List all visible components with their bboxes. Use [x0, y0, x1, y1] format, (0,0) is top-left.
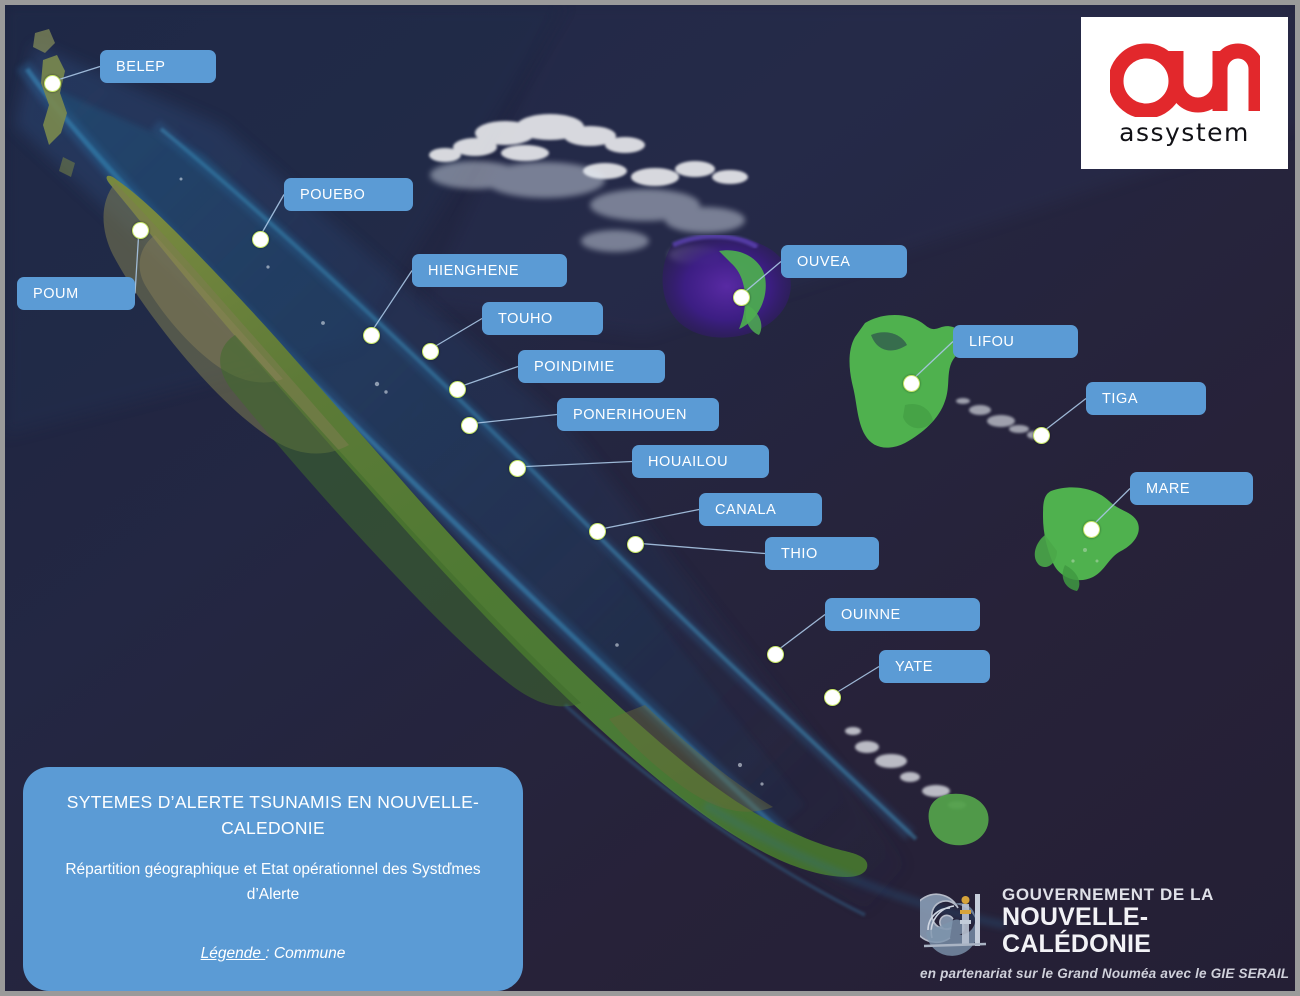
- legend-line: Légende : Commune: [49, 945, 497, 963]
- site-label-ouinne[interactable]: OUINNE: [825, 598, 980, 631]
- site-marker-ouvea[interactable]: [733, 289, 750, 306]
- assystem-logo: assystem: [1081, 17, 1288, 169]
- site-marker-pouebo[interactable]: [252, 231, 269, 248]
- site-marker-poum[interactable]: [132, 222, 149, 239]
- site-label-yate[interactable]: YATE: [879, 650, 990, 683]
- site-marker-canala[interactable]: [589, 523, 606, 540]
- site-marker-lifou[interactable]: [903, 375, 920, 392]
- site-label-pouebo[interactable]: POUEBO: [284, 178, 413, 211]
- site-label-lifou[interactable]: LIFOU: [953, 325, 1078, 358]
- site-marker-belep[interactable]: [44, 75, 61, 92]
- poster-subtitle: Répartition géographique et Etat opérati…: [49, 857, 497, 907]
- site-label-hienghene[interactable]: HIENGHENE: [412, 254, 567, 287]
- site-marker-hienghene[interactable]: [363, 327, 380, 344]
- map-poster: BELEPPOUMPOUEBOHIENGHENETOUHOPOINDIMIEPO…: [0, 0, 1300, 996]
- site-label-canala[interactable]: CANALA: [699, 493, 822, 526]
- site-label-mare[interactable]: MARE: [1130, 472, 1253, 505]
- site-label-houailou[interactable]: HOUAILOU: [632, 445, 769, 478]
- site-marker-yate[interactable]: [824, 689, 841, 706]
- site-marker-ouinne[interactable]: [767, 646, 784, 663]
- satellite-map[interactable]: BELEPPOUMPOUEBOHIENGHENETOUHOPOINDIMIEPO…: [5, 5, 1295, 991]
- legend-value: : Commune: [265, 945, 345, 962]
- government-line1: GOUVERNEMENT DE LA: [1002, 885, 1295, 904]
- site-label-belep[interactable]: BELEP: [100, 50, 216, 83]
- title-legend-panel: SYTEMES D’ALERTE TSUNAMIS EN NOUVELLE-CA…: [23, 767, 523, 991]
- government-logo: GOUVERNEMENT DE LA NOUVELLE-CALÉDONIE en…: [920, 885, 1295, 990]
- site-marker-tiga[interactable]: [1033, 427, 1050, 444]
- site-label-poindimie[interactable]: POINDIMIE: [518, 350, 665, 383]
- assystem-wordmark: assystem: [1119, 118, 1250, 147]
- site-label-touho[interactable]: TOUHO: [482, 302, 603, 335]
- site-marker-ponerihouen[interactable]: [461, 417, 478, 434]
- site-marker-mare[interactable]: [1083, 521, 1100, 538]
- site-marker-thio[interactable]: [627, 536, 644, 553]
- site-marker-touho[interactable]: [422, 343, 439, 360]
- site-label-poum[interactable]: POUM: [17, 277, 135, 310]
- legend-label: Légende: [201, 945, 266, 962]
- site-marker-poindimie[interactable]: [449, 381, 466, 398]
- site-label-ouvea[interactable]: OUVEA: [781, 245, 907, 278]
- site-label-tiga[interactable]: TIGA: [1086, 382, 1206, 415]
- site-label-thio[interactable]: THIO: [765, 537, 879, 570]
- site-marker-houailou[interactable]: [509, 460, 526, 477]
- partnership-note: en partenariat sur le Grand Nouméa avec …: [920, 966, 1295, 981]
- site-label-ponerihouen[interactable]: PONERIHOUEN: [557, 398, 719, 431]
- government-line2: NOUVELLE-CALÉDONIE: [1002, 904, 1295, 958]
- poster-title: SYTEMES D’ALERTE TSUNAMIS EN NOUVELLE-CA…: [49, 789, 497, 841]
- assystem-aun-mark: [1110, 39, 1260, 117]
- nautilus-shell-emblem: [920, 886, 992, 958]
